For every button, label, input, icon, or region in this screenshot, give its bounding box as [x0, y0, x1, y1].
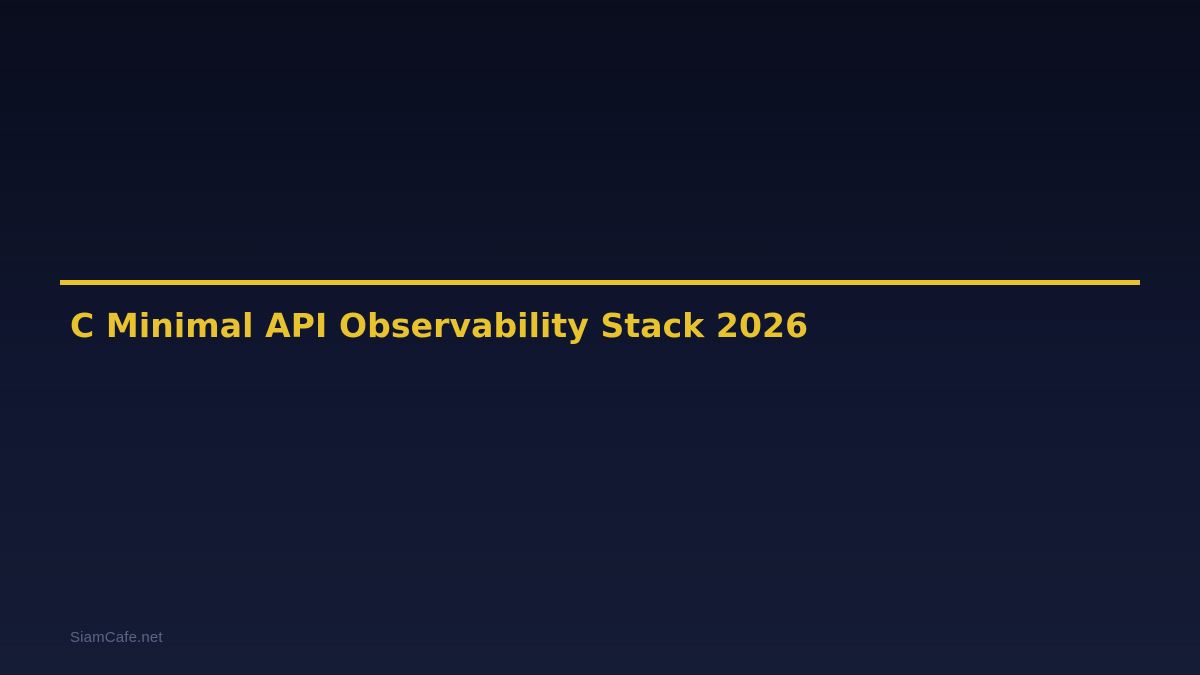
page-title: C Minimal API Observability Stack 2026 [60, 285, 1140, 344]
title-block: C Minimal API Observability Stack 2026 [60, 280, 1140, 344]
title-slide: C Minimal API Observability Stack 2026 S… [0, 0, 1200, 675]
footer-branding: SiamCafe.net [70, 630, 163, 645]
